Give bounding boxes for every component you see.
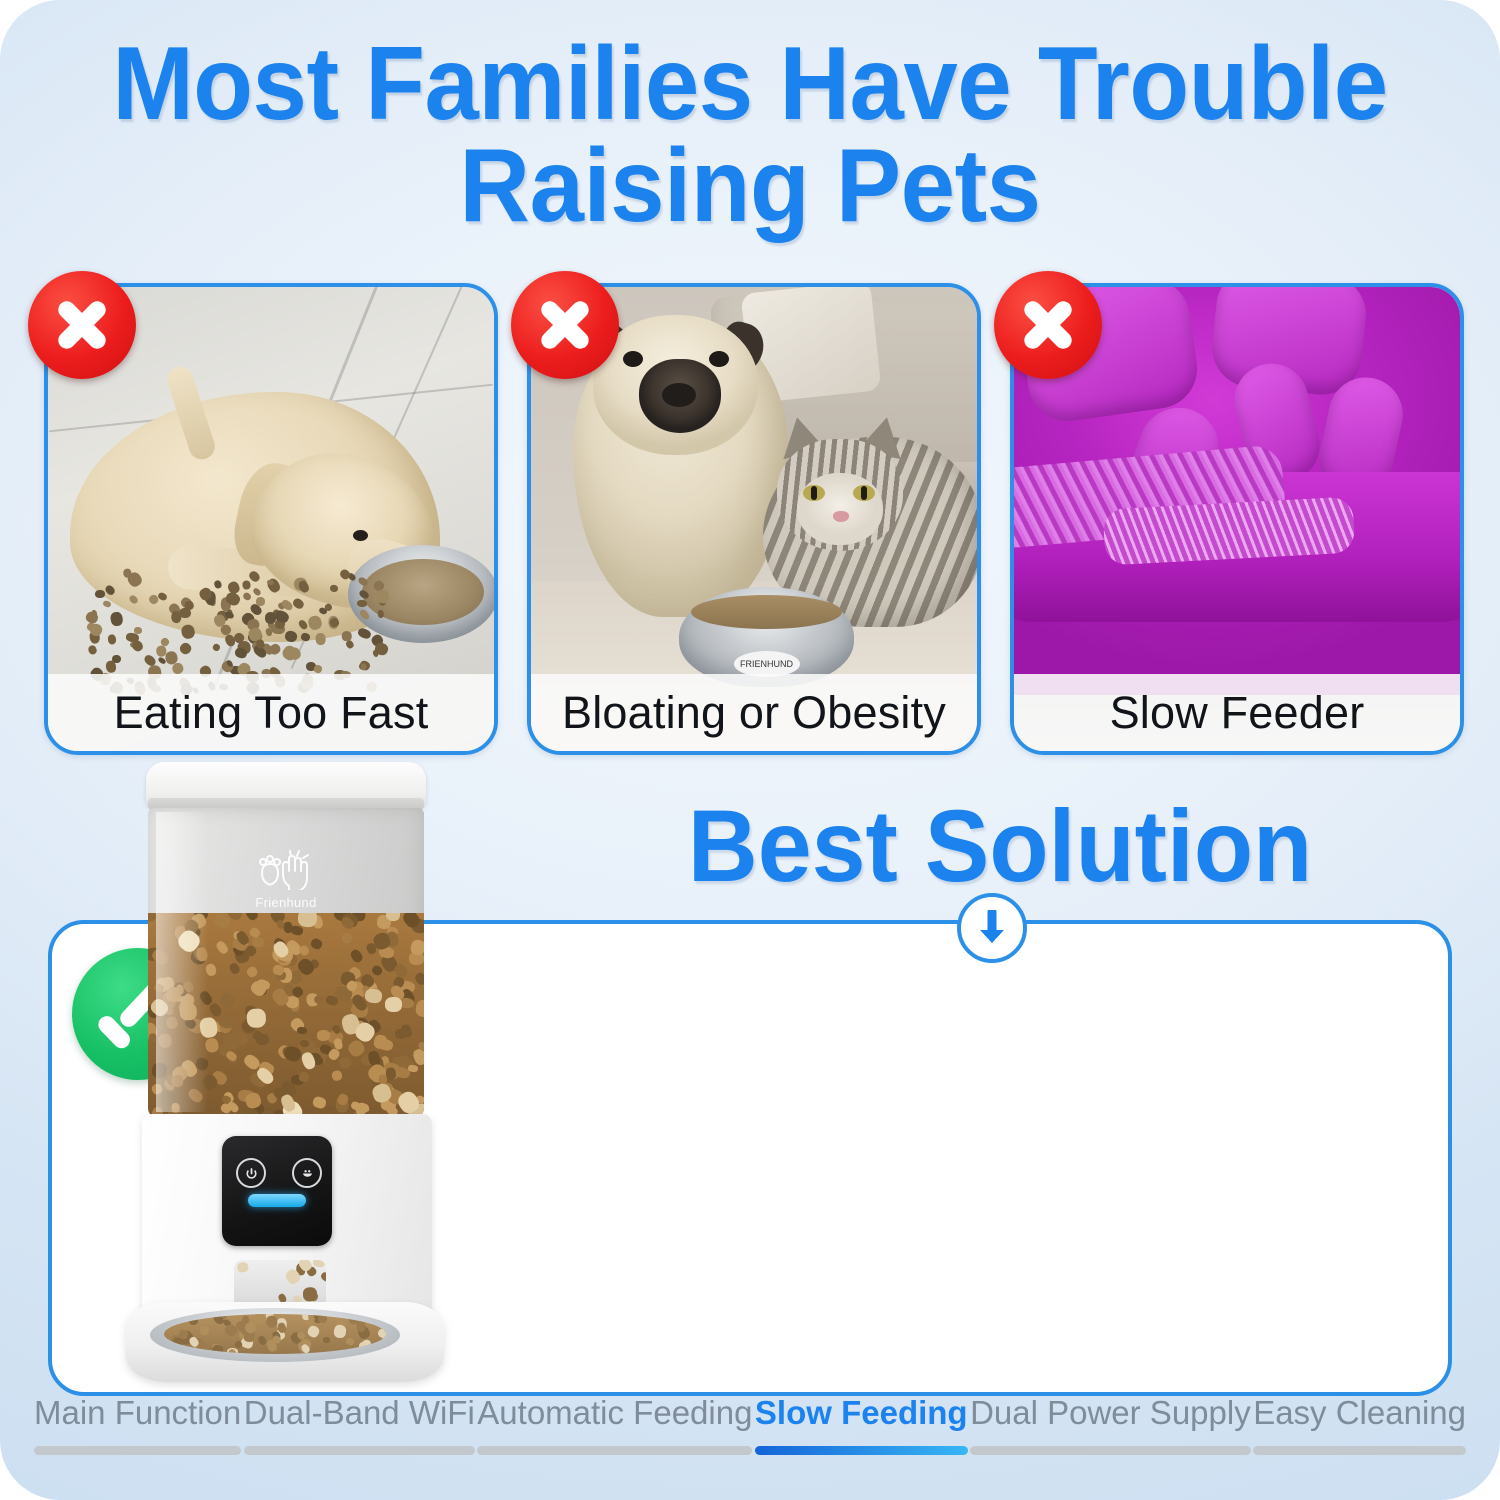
tab-label: Easy Cleaning [1253,1394,1466,1432]
feeder-body [142,1114,432,1324]
infographic-page: Most Families Have Trouble Raising Pets … [0,0,1500,1500]
tab-main-function[interactable]: Main Function [34,1394,241,1455]
tab-label: Automatic Feeding [477,1394,752,1432]
tab-underline [34,1446,241,1455]
tab-dual-power-supply[interactable]: Dual Power Supply [970,1394,1251,1455]
title-line-2: Raising Pets [45,136,1455,238]
feature-tab-bar: Main FunctionDual-Band WiFiAutomatic Fee… [0,1394,1500,1472]
tab-underline [477,1446,752,1455]
tab-underline [244,1446,475,1455]
best-solution-title: Best Solution [639,795,1361,897]
tab-label: Dual-Band WiFi [244,1394,475,1432]
tab-automatic-feeding[interactable]: Automatic Feeding [477,1394,752,1455]
bowl-kibble [164,1314,386,1354]
paw-highfive-icon [255,850,317,890]
status-led [248,1194,306,1207]
tab-underline [970,1446,1251,1455]
title-line-1: Most Families Have Trouble [45,34,1455,136]
feed-icon[interactable] [292,1158,322,1188]
brand-name: Frienhund [255,895,316,910]
tab-label: Slow Feeding [755,1394,968,1432]
x-mark-icon [511,271,619,379]
tab-underline [755,1446,968,1455]
tab-underline [1253,1446,1466,1455]
control-panel[interactable] [222,1136,332,1246]
brand-logo: Frienhund [221,850,351,912]
feeder-hopper: Frienhund [148,808,424,1118]
power-icon[interactable] [236,1158,266,1188]
down-arrow-icon [957,893,1027,963]
product-image-feeder: Frienhund [120,762,450,1382]
x-mark-icon [28,271,136,379]
problem-cards: Eating Too Fast FRIENHUND Bloating or Ob… [44,283,1456,747]
tab-slow-feeding[interactable]: Slow Feeding [755,1394,968,1455]
card-caption: Bloating or Obesity [531,674,977,751]
tab-easy-cleaning[interactable]: Easy Cleaning [1253,1394,1466,1455]
tab-label: Dual Power Supply [970,1394,1251,1432]
page-title: Most Families Have Trouble Raising Pets [45,34,1455,238]
card-caption: Slow Feeder [1014,674,1460,751]
tab-label: Main Function [34,1394,241,1432]
x-mark-icon [994,271,1102,379]
tab-dual-band-wifi[interactable]: Dual-Band WiFi [244,1394,475,1455]
card-caption: Eating Too Fast [48,674,494,751]
